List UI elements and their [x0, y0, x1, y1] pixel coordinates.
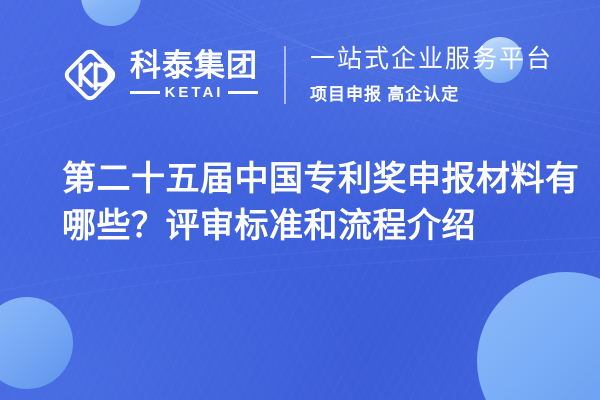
slogan-block: 一站式企业服务平台 项目申报 高企认定 — [310, 45, 553, 105]
brand-name-en: KETAI — [165, 85, 224, 100]
brand-name-cn: 科泰集团 — [130, 50, 258, 81]
wordmark-dash-right — [228, 91, 258, 94]
headline-block: 第二十五届中国专利奖申报材料有 哪些？评审标准和流程介绍 — [62, 156, 554, 250]
headline-line-2: 哪些？评审标准和流程介绍 — [62, 203, 554, 250]
promo-banner: 科泰集团 KETAI 一站式企业服务平台 项目申报 高企认定 第二十五届中国专利… — [0, 0, 600, 400]
slogan-main-text: 一站式企业服务平台 — [310, 45, 553, 73]
brand-lockup: 科泰集团 KETAI — [62, 47, 258, 103]
banner-header: 科泰集团 KETAI 一站式企业服务平台 项目申报 高企认定 — [0, 38, 600, 112]
wordmark-dash-left — [130, 91, 160, 94]
brand-name-en-row: KETAI — [130, 85, 258, 100]
slogan-sub-text: 项目申报 高企认定 — [310, 80, 553, 105]
header-divider — [284, 46, 286, 104]
brand-wordmark: 科泰集团 KETAI — [130, 50, 258, 100]
ketai-kd-diamond-logo-icon — [62, 47, 118, 103]
headline-line-1: 第二十五届中国专利奖申报材料有 — [62, 156, 554, 203]
